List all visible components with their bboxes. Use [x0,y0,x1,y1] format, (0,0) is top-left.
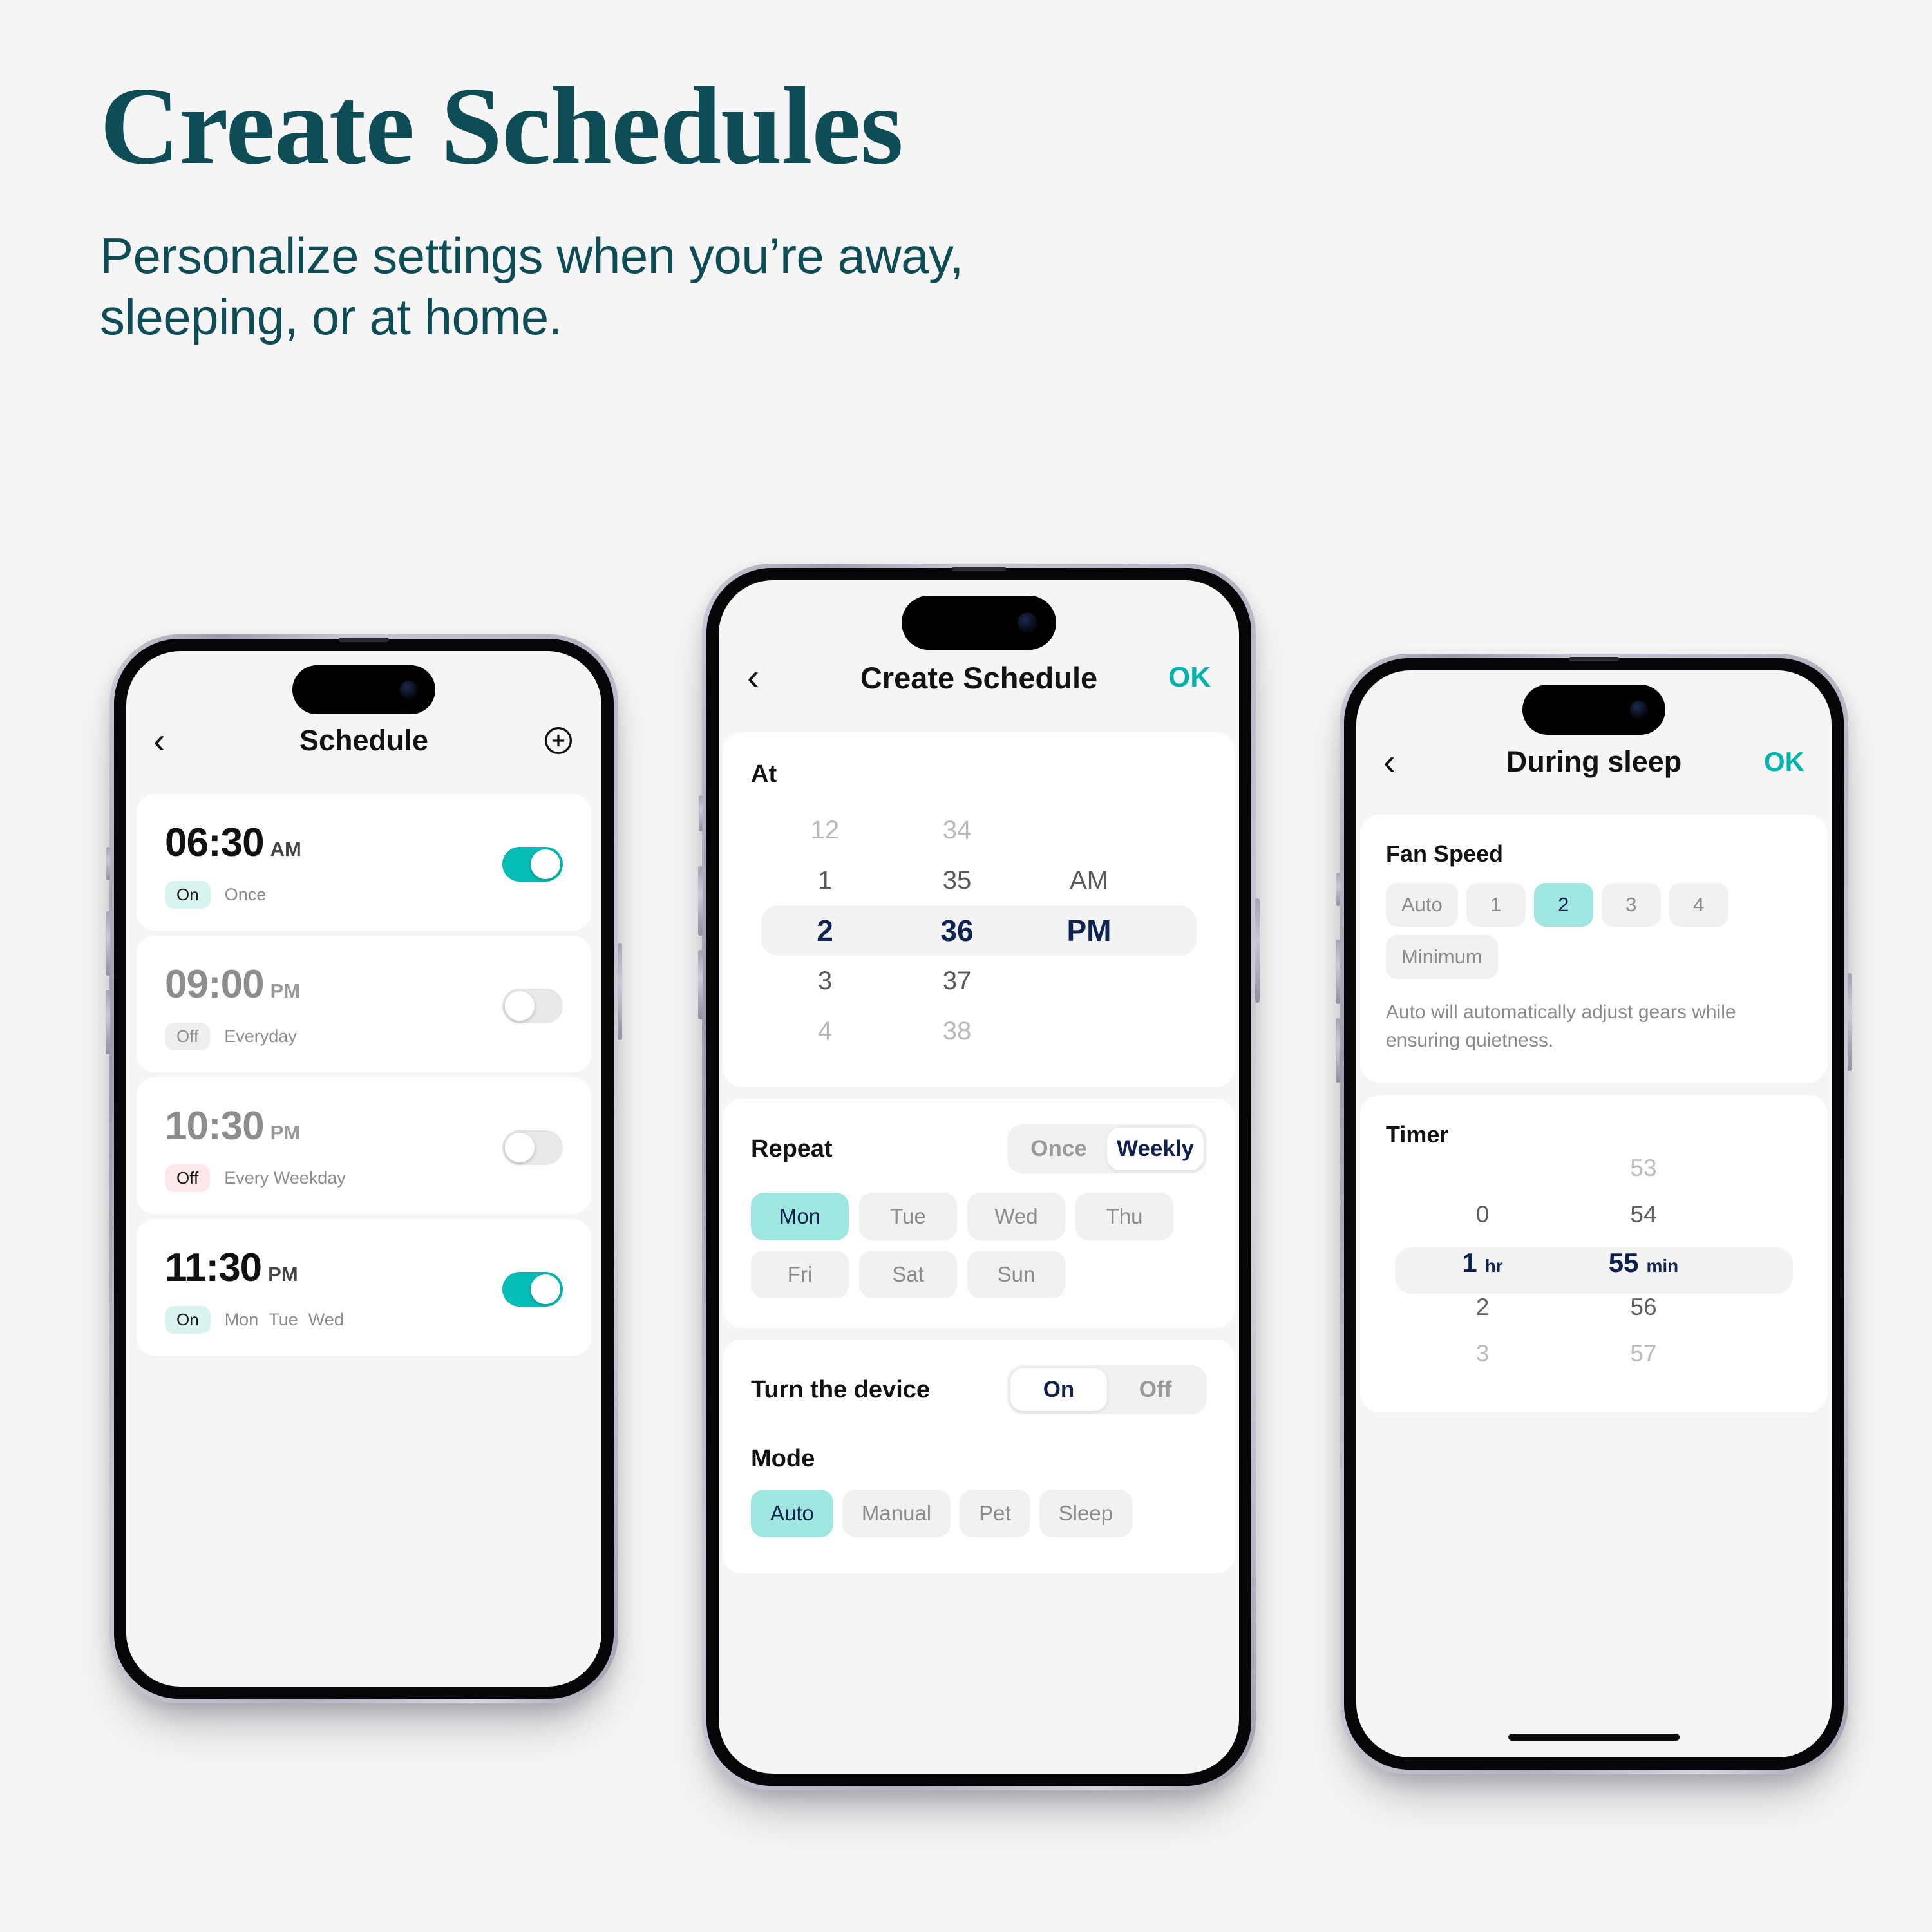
earpiece-speaker [952,567,1006,571]
mode-chip[interactable]: Manual [842,1490,951,1537]
dynamic-island [292,665,435,714]
weekday-chip[interactable]: Wed [967,1193,1065,1240]
picker-cell[interactable]: 1hr [1412,1247,1553,1294]
picker-cell[interactable] [1028,1006,1150,1056]
schedule-row[interactable]: 09:00PMOffEveryday [137,936,591,1072]
timer-minute-column[interactable]: 535455min5657 [1573,1155,1714,1387]
schedule-repeat: Everyday [224,1027,297,1046]
fan-speed-label: Fan Speed [1386,840,1802,867]
weekday-chip[interactable]: Tue [859,1193,957,1240]
picker-value: 57 [1630,1340,1656,1367]
schedule-time: 06:30 [165,820,264,866]
navigation-bar: ‹ Schedule [126,705,601,776]
repeat-card: Repeat OnceWeekly MonTueWedThuFriSatSun [723,1099,1235,1328]
picker-value: 0 [1476,1201,1490,1228]
volume-up-button[interactable] [106,911,110,976]
picker-cell[interactable]: 3 [764,956,886,1006]
picker-cell[interactable]: 55min [1573,1247,1714,1294]
fan-speed-chip[interactable]: Auto [1386,883,1458,927]
volume-down-button[interactable] [1336,1018,1340,1083]
segment-option[interactable]: Off [1107,1368,1204,1411]
weekday-chip[interactable]: Sun [967,1251,1065,1298]
segment-option[interactable]: Weekly [1107,1128,1204,1170]
schedule-time: 11:30 [165,1245,261,1291]
picker-cell[interactable]: 38 [896,1006,1018,1056]
mode-chips[interactable]: AutoManualPetSleep [751,1490,1207,1537]
device-mode-card: Turn the device OnOff Mode AutoManualPet… [723,1340,1235,1573]
repeat-mode-segmented-control[interactable]: OnceWeekly [1007,1124,1207,1173]
repeat-label: Repeat [751,1135,833,1163]
picker-value: 55 [1609,1247,1639,1278]
schedule-toggle[interactable] [502,1272,563,1307]
picker-cell[interactable]: 12 [764,805,886,855]
silent-switch[interactable] [699,795,703,831]
fan-speed-chip[interactable]: 3 [1602,883,1661,927]
dynamic-island [1522,685,1665,735]
page-subtitle: Personalize settings when you’re away, s… [100,225,963,348]
phone-screen: ‹ During sleep OK Fan Speed Auto1234Mini… [1356,670,1832,1757]
schedule-row-info: 09:00PMOffEveryday [165,961,300,1050]
weekday-chip[interactable]: Fri [751,1251,849,1298]
schedule-time: 09:00 [165,961,264,1007]
picker-unit: hr [1485,1256,1503,1276]
silent-switch[interactable] [106,847,110,880]
phone-screen: ‹ Create Schedule OK At 121234 343536373… [719,580,1239,1774]
timer-picker[interactable]: 01hr23 535455min5657 [1386,1155,1802,1387]
fan-speed-card: Fan Speed Auto1234Minimum Auto will auto… [1360,815,1828,1083]
toggle-knob [505,991,535,1021]
picker-cell[interactable]: AM [1028,855,1150,905]
time-picker[interactable]: 121234 3435363738 AMPM [751,805,1207,1056]
fan-speed-chip[interactable]: 1 [1466,883,1526,927]
picker-value: 54 [1630,1201,1656,1228]
mode-chip[interactable]: Auto [751,1490,833,1537]
schedule-meridiem: PM [270,1121,301,1144]
volume-down-button[interactable] [106,990,110,1054]
picker-cell[interactable]: PM [1028,905,1150,956]
meridiem-column[interactable]: AMPM [1028,805,1150,1056]
volume-up-button[interactable] [1336,940,1340,1004]
picker-cell[interactable]: 2 [764,905,886,956]
volume-up-button[interactable] [698,866,703,936]
schedule-toggle[interactable] [502,989,563,1023]
picker-cell[interactable]: 0 [1412,1201,1553,1247]
picker-cell[interactable]: 37 [896,956,1018,1006]
weekday-chip[interactable]: Thu [1075,1193,1173,1240]
mode-label: Mode [751,1445,1207,1473]
mode-chip[interactable]: Pet [960,1490,1030,1537]
weekday-chips[interactable]: MonTueWedThuFriSatSun [751,1193,1207,1298]
schedule-time: 10:30 [165,1103,264,1149]
toggle-knob [531,1274,560,1304]
schedule-row-info: 10:30PMOffEvery Weekday [165,1103,346,1192]
minute-column[interactable]: 3435363738 [896,805,1018,1056]
schedule-row[interactable]: 06:30AMOnOnce [137,794,591,931]
picker-cell[interactable]: 56 [1573,1294,1714,1340]
timer-card: Timer 01hr23 535455min5657 [1360,1095,1828,1412]
schedule-toggle[interactable] [502,1130,563,1165]
picker-cell[interactable]: 57 [1573,1340,1714,1387]
fan-speed-chip[interactable]: Minimum [1386,935,1498,979]
picker-value: 1 [1462,1247,1477,1278]
picker-cell[interactable] [1028,956,1150,1006]
picker-cell[interactable]: 36 [896,905,1018,956]
status-badge: Off [165,1023,210,1050]
toggle-knob [531,849,560,879]
toggle-knob [505,1133,535,1162]
picker-value: 56 [1630,1294,1656,1321]
hour-column[interactable]: 121234 [764,805,886,1056]
picker-cell[interactable]: 53 [1573,1155,1714,1201]
fan-speed-description: Auto will automatically adjust gears whi… [1386,998,1802,1054]
power-button[interactable] [618,943,622,1040]
phone-screen: ‹ Schedule 06:30AMOnOnce09:00PMOffEveryd… [126,651,601,1687]
front-camera-icon [1630,701,1649,719]
picker-unit: min [1646,1256,1678,1276]
fan-speed-chips[interactable]: Auto1234Minimum [1386,883,1802,979]
schedule-list: 06:30AMOnOnce09:00PMOffEveryday10:30PMOf… [126,794,601,1356]
day-label: Tue [269,1310,298,1329]
weekday-chip[interactable]: Mon [751,1193,849,1240]
picker-cell[interactable]: 1 [764,855,886,905]
schedule-meridiem: AM [270,838,301,861]
page-title: Create Schedules [100,71,963,182]
time-picker-card: At 121234 3435363738 AMPM [723,732,1235,1087]
front-camera-icon [1018,612,1037,632]
segment-option[interactable]: Once [1010,1128,1107,1170]
schedule-repeat: Once [225,885,267,905]
picker-cell[interactable]: 35 [896,855,1018,905]
day-label: Mon [225,1310,259,1329]
screen-title: Create Schedule [719,660,1239,696]
mode-chip[interactable]: Sleep [1039,1490,1132,1537]
phone-mockup-create-schedule: ‹ Create Schedule OK At 121234 343536373… [702,563,1256,1790]
power-button[interactable] [1255,898,1260,1003]
picker-value: 53 [1630,1155,1656,1182]
day-label: Wed [308,1310,344,1329]
picker-cell[interactable]: 2 [1412,1294,1553,1340]
phone-mockup-schedule-list: ‹ Schedule 06:30AMOnOnce09:00PMOffEveryd… [109,634,618,1703]
navigation-bar: ‹ Create Schedule OK [719,639,1239,715]
picker-cell[interactable]: 3 [1412,1340,1553,1387]
schedule-repeat: MonTueWed [225,1310,354,1330]
schedule-repeat: Every Weekday [224,1168,346,1188]
schedule-row-info: 11:30PMOnMonTueWed [165,1245,354,1334]
picker-cell[interactable]: 4 [764,1006,886,1056]
turn-device-label: Turn the device [751,1376,930,1404]
weekday-chip[interactable]: Sat [859,1251,957,1298]
schedule-meridiem: PM [270,980,301,1003]
screen-title: Schedule [126,724,601,757]
hero-section: Create Schedules Personalize settings wh… [100,71,963,348]
earpiece-speaker [1569,657,1619,661]
schedule-row[interactable]: 10:30PMOffEvery Weekday [137,1077,591,1214]
schedule-row-info: 06:30AMOnOnce [165,820,301,909]
picker-value: 3 [1476,1340,1490,1367]
picker-cell[interactable]: 54 [1573,1201,1714,1247]
schedule-meridiem: PM [268,1263,298,1286]
status-badge: Off [165,1164,210,1192]
picker-value: 2 [1476,1294,1490,1321]
at-label: At [751,761,1207,788]
page-subtitle-line-2: sleeping, or at home. [100,287,963,348]
picker-cell[interactable] [1028,805,1150,855]
fan-speed-chip[interactable]: 4 [1669,883,1728,927]
earpiece-speaker [339,638,389,642]
timer-hour-column[interactable]: 01hr23 [1412,1155,1553,1387]
picker-cell[interactable] [1412,1155,1553,1201]
status-badge: On [165,1306,211,1334]
volume-down-button[interactable] [698,950,703,1019]
home-indicator[interactable] [1508,1734,1680,1741]
page-subtitle-line-1: Personalize settings when you’re away, [100,225,963,287]
schedule-row[interactable]: 11:30PMOnMonTueWed [137,1219,591,1356]
timer-label: Timer [1386,1121,1802,1148]
turn-device-segmented-control[interactable]: OnOff [1007,1365,1207,1414]
fan-speed-chip[interactable]: 2 [1534,883,1593,927]
status-badge: On [165,881,211,909]
front-camera-icon [400,681,419,699]
silent-switch[interactable] [1336,873,1340,906]
screen-title: During sleep [1356,745,1832,779]
navigation-bar: ‹ During sleep OK [1356,726,1832,798]
dynamic-island [902,596,1056,650]
schedule-toggle[interactable] [502,847,563,882]
segment-option[interactable]: On [1010,1368,1107,1411]
phone-mockup-during-sleep: ‹ During sleep OK Fan Speed Auto1234Mini… [1340,654,1848,1774]
picker-cell[interactable]: 34 [896,805,1018,855]
power-button[interactable] [1848,973,1852,1071]
